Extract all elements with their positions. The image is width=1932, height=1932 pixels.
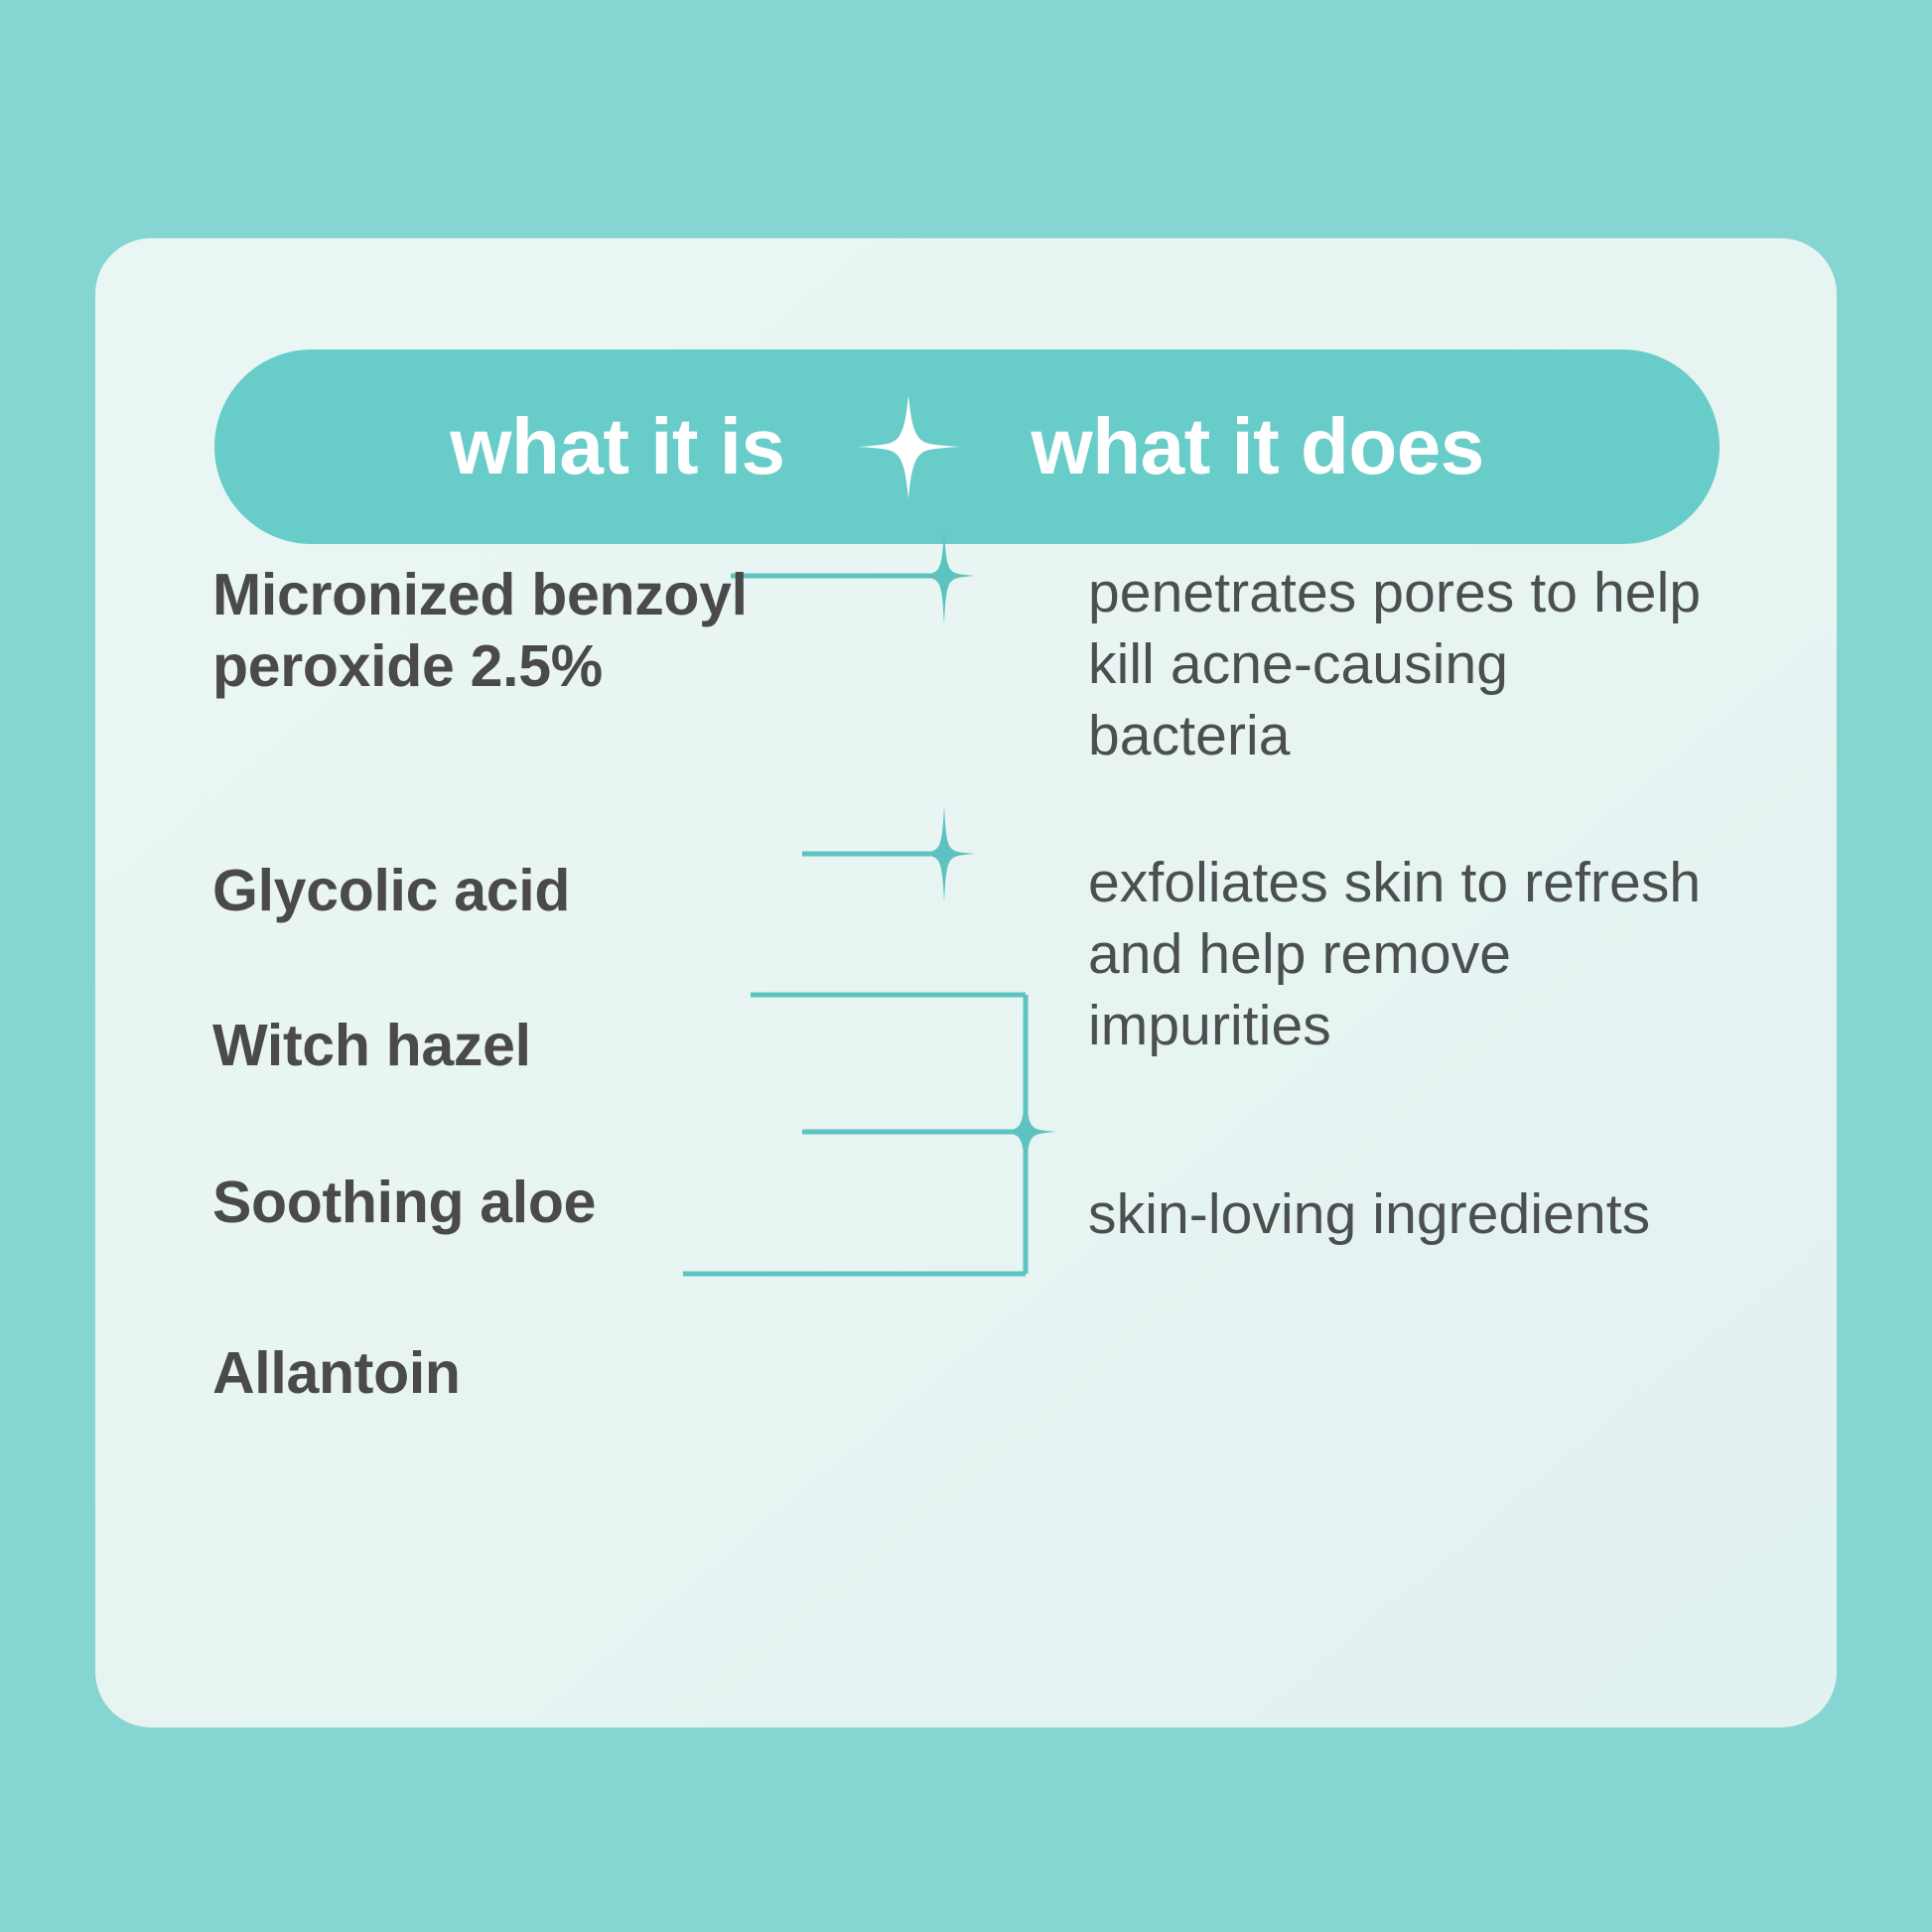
- ingredient-label-soothing-aloe: Soothing aloe: [212, 1168, 828, 1239]
- header-what-it-does-label: what it does: [1032, 407, 1484, 486]
- header-what-it-is-label: what it is: [450, 407, 784, 486]
- benefit-text-glycolic-acid: exfoliates skin to refresh and help remo…: [1088, 848, 1724, 1061]
- ingredient-card: what it is what it does: [95, 238, 1837, 1727]
- what-it-is-column: Micronized benzoyl peroxide 2.5% Glycoli…: [212, 544, 1027, 1727]
- ingredient-label-glycolic-acid: Glycolic acid: [212, 856, 828, 927]
- benefit-text-skin-loving: skin-loving ingredients: [1088, 1179, 1724, 1251]
- benefit-text-benzoyl-peroxide: penetrates pores to help kill acne-causi…: [1088, 558, 1724, 771]
- infographic-canvas: what it is what it does: [0, 0, 1932, 1932]
- content-columns: Micronized benzoyl peroxide 2.5% Glycoli…: [95, 544, 1837, 1727]
- ingredient-label-allantoin: Allantoin: [212, 1338, 828, 1410]
- what-it-does-column: penetrates pores to help kill acne-causi…: [1088, 544, 1733, 1727]
- ingredient-label-micronized-benzoyl-peroxide: Micronized benzoyl peroxide 2.5%: [212, 560, 828, 703]
- header-banner: what it is what it does: [214, 349, 1720, 544]
- sparkle-four-point-icon: [857, 395, 960, 498]
- ingredient-label-witch-hazel: Witch hazel: [212, 1011, 828, 1082]
